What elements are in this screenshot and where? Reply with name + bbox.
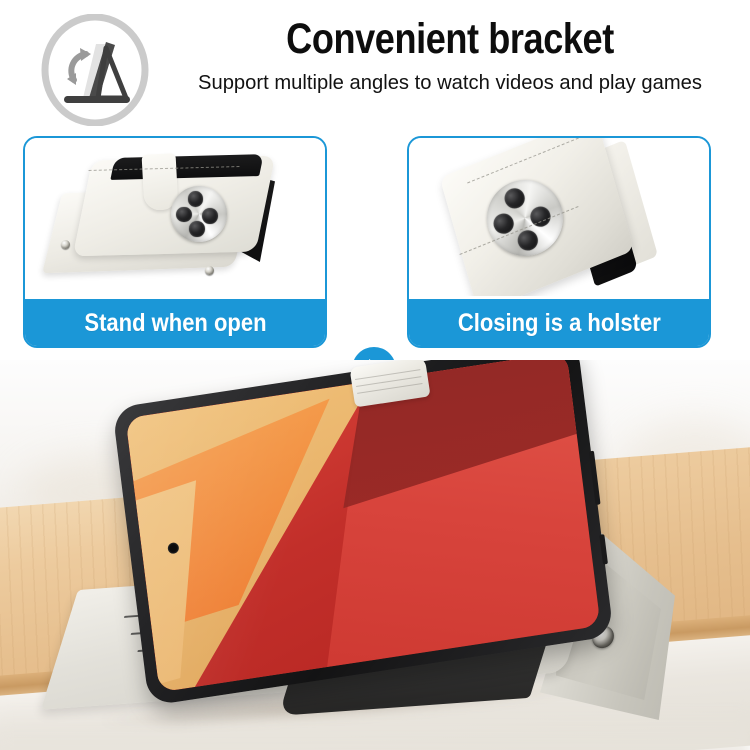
camera-module [171,186,227,242]
case-closed-illustration [427,144,675,290]
feature-panel-stand-when-open: Stand when open [23,136,327,348]
feature-panel-closing-is-a-holster: Closing is a holster [407,136,711,348]
bracket-stand-icon [36,14,154,126]
panel-caption-label: Stand when open [84,309,266,338]
panel-photo-closing-is-a-holster [409,138,709,296]
camera-lens [189,221,205,237]
header-text-block: Convenient bracket Support multiple angl… [160,14,740,114]
panel-caption-closing-is-a-holster: Closing is a holster [408,299,710,347]
phone-case-assembly [0,360,750,750]
case-rivet [205,266,214,275]
camera-lens [202,208,218,224]
panel-photo-stand-when-open [25,138,325,296]
feature-header: Convenient bracket Support multiple angl… [0,0,750,128]
case-open-illustration [53,156,301,284]
feature-panel-row: Stand when open C [0,136,750,360]
page-subtitle: Support multiple angles to watch videos … [164,70,735,95]
main-product-photo [0,360,750,750]
case-rivet [61,240,70,249]
panel-caption-label: Closing is a holster [458,309,661,338]
panel-caption-stand-when-open: Stand when open [24,299,326,347]
page-title: Convenient bracket [206,14,693,64]
camera-lens [188,191,204,207]
camera-lens [176,207,192,223]
